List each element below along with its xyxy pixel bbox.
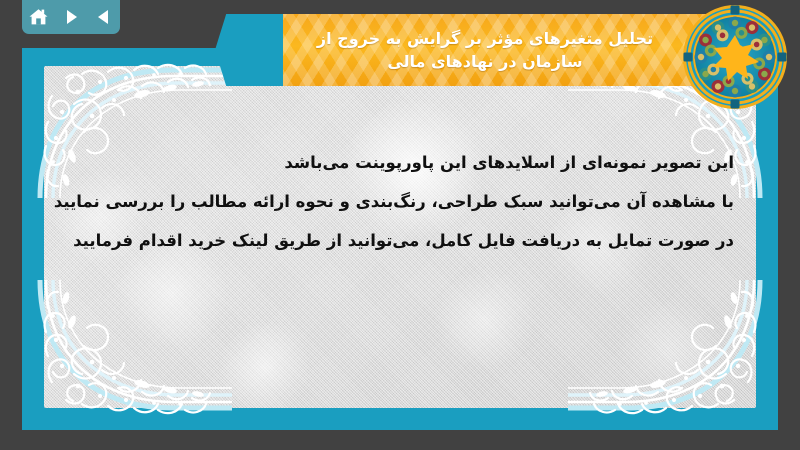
- slide-viewer: این تصویر نمونه‌ای از اسلایدهای این پاور…: [0, 0, 800, 450]
- body-line-1: این تصویر نمونه‌ای از اسلایدهای این پاور…: [78, 144, 734, 183]
- body-line-3: در صورت تمایل به دریافت فایل کامل، می‌تو…: [78, 222, 734, 261]
- page-title: تحلیل متغیرهای مؤثر بر گرایش به خروج از …: [309, 27, 661, 73]
- previous-slide-button[interactable]: [91, 4, 117, 30]
- slide-title-banner: تحلیل متغیرهای مؤثر بر گرایش به خروج از …: [283, 14, 735, 86]
- home-button[interactable]: [25, 4, 51, 30]
- mandala-medallion-icon: [682, 4, 788, 110]
- home-icon: [28, 7, 49, 27]
- triangle-left-icon: [94, 7, 114, 27]
- slide-body-text: این تصویر نمونه‌ای از اسلایدهای این پاور…: [78, 144, 734, 260]
- banner-arrow-tail: [215, 14, 285, 86]
- triangle-right-icon: [61, 7, 81, 27]
- next-slide-button[interactable]: [58, 4, 84, 30]
- body-line-2: با مشاهده آن می‌توانید سبک طراحی، رنگ‌بن…: [78, 183, 734, 222]
- slide-navigation-bar: [22, 0, 120, 34]
- slide-frame: این تصویر نمونه‌ای از اسلایدهای این پاور…: [22, 48, 778, 430]
